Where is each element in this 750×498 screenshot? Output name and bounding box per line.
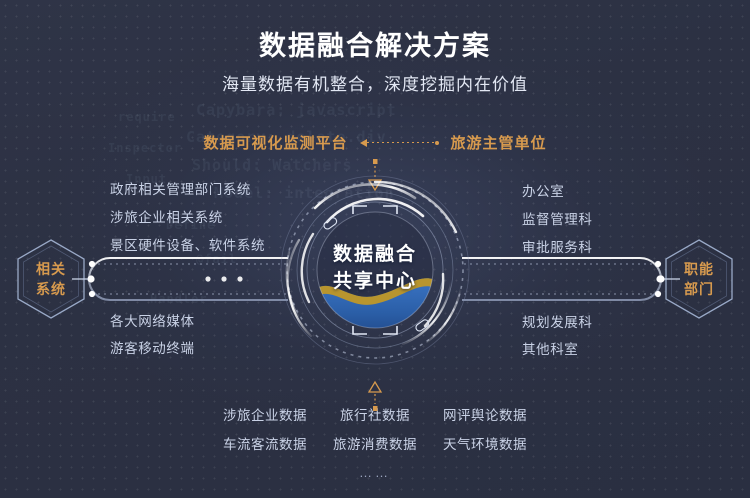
left-hexagon-label: 相关系统 bbox=[36, 259, 66, 300]
bottom-gold-arrow-icon bbox=[369, 382, 381, 411]
core-label: 数据融合共享中心 bbox=[275, 242, 475, 296]
ring-capsule-marker bbox=[415, 318, 430, 332]
infographic-canvas: Capybara: javascript Category: delete.di… bbox=[0, 0, 750, 498]
data-fusion-core[interactable]: 数据融合共享中心 bbox=[275, 170, 475, 370]
right-hexagon-label: 职能部门 bbox=[684, 259, 714, 300]
